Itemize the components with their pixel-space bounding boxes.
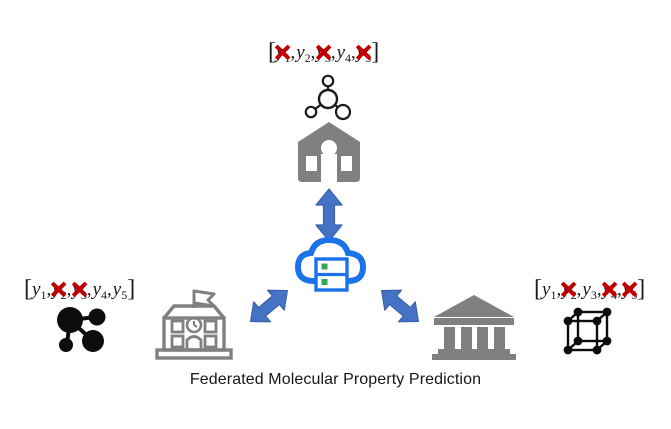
label-symbol: y xyxy=(623,280,631,299)
label-entry-masked: y3 xyxy=(72,280,86,299)
crystal-lattice-icon xyxy=(562,306,616,358)
bracket-open: [ xyxy=(268,40,276,64)
label-subscript: 1 xyxy=(284,52,290,64)
label-subscript: 2 xyxy=(305,52,311,64)
label-symbol: y xyxy=(52,280,60,299)
label-entry: y2 xyxy=(296,43,310,62)
double-arrow-vertical-icon xyxy=(313,188,345,242)
label-subscript: 1 xyxy=(40,289,46,301)
right-client-label-vector: [y1,y2,y3,y4,y5] xyxy=(534,277,645,301)
double-arrow-diagonal-right-icon xyxy=(373,283,427,329)
label-entry: y3 xyxy=(582,280,596,299)
label-entry: y4 xyxy=(93,280,107,299)
label-entry-masked: y2 xyxy=(562,280,576,299)
label-subscript: 5 xyxy=(121,289,127,301)
cloud-server-icon xyxy=(292,235,370,297)
label-entry-masked: y1 xyxy=(276,43,290,62)
label-subscript: 5 xyxy=(365,52,371,64)
bracket-close: ] xyxy=(371,40,379,64)
label-subscript: 4 xyxy=(611,289,617,301)
label-subscript: 2 xyxy=(61,289,67,301)
label-symbol: y xyxy=(582,280,590,299)
bracket-close: ] xyxy=(127,277,135,301)
label-symbol: y xyxy=(93,280,101,299)
molecule-graph-icon xyxy=(300,72,356,122)
label-symbol: y xyxy=(562,280,570,299)
school-building-icon xyxy=(294,120,364,184)
label-symbol: y xyxy=(357,43,365,62)
bank-columns-icon xyxy=(428,293,520,361)
molecule-cluster-icon xyxy=(52,306,114,358)
label-entry-masked: y4 xyxy=(603,280,617,299)
label-entry-masked: y2 xyxy=(52,280,66,299)
school-with-flag-icon xyxy=(148,288,240,362)
server-label-vector: [y1,y2,y3,y4,y5] xyxy=(268,40,379,64)
label-symbol: y xyxy=(316,43,324,62)
label-entry-masked: y3 xyxy=(316,43,330,62)
label-symbol: y xyxy=(542,280,550,299)
label-symbol: y xyxy=(337,43,345,62)
label-symbol: y xyxy=(113,280,121,299)
label-entry-masked: y5 xyxy=(623,280,637,299)
federated-learning-diagram: [y1,y2,y3,y4,y5] xyxy=(0,0,671,429)
label-entry-masked: y5 xyxy=(357,43,371,62)
label-subscript: 3 xyxy=(81,289,87,301)
label-symbol: y xyxy=(32,280,40,299)
bracket-open: [ xyxy=(534,277,542,301)
label-symbol: y xyxy=(296,43,304,62)
label-symbol: y xyxy=(276,43,284,62)
label-subscript: 2 xyxy=(571,289,577,301)
bracket-open: [ xyxy=(24,277,32,301)
label-entry: y4 xyxy=(337,43,351,62)
bracket-close: ] xyxy=(637,277,645,301)
label-subscript: 5 xyxy=(631,289,637,301)
left-client-label-vector: [y1,y2,y3,y4,y5] xyxy=(24,277,135,301)
label-subscript: 3 xyxy=(325,52,331,64)
figure-caption: Federated Molecular Property Prediction xyxy=(0,371,671,389)
label-subscript: 1 xyxy=(550,289,556,301)
double-arrow-diagonal-left-icon xyxy=(242,283,296,329)
label-symbol: y xyxy=(72,280,80,299)
label-subscript: 3 xyxy=(591,289,597,301)
label-subscript: 4 xyxy=(101,289,107,301)
label-subscript: 4 xyxy=(345,52,351,64)
label-entry: y5 xyxy=(113,280,127,299)
label-entry: y1 xyxy=(542,280,556,299)
label-symbol: y xyxy=(603,280,611,299)
label-entry: y1 xyxy=(32,280,46,299)
